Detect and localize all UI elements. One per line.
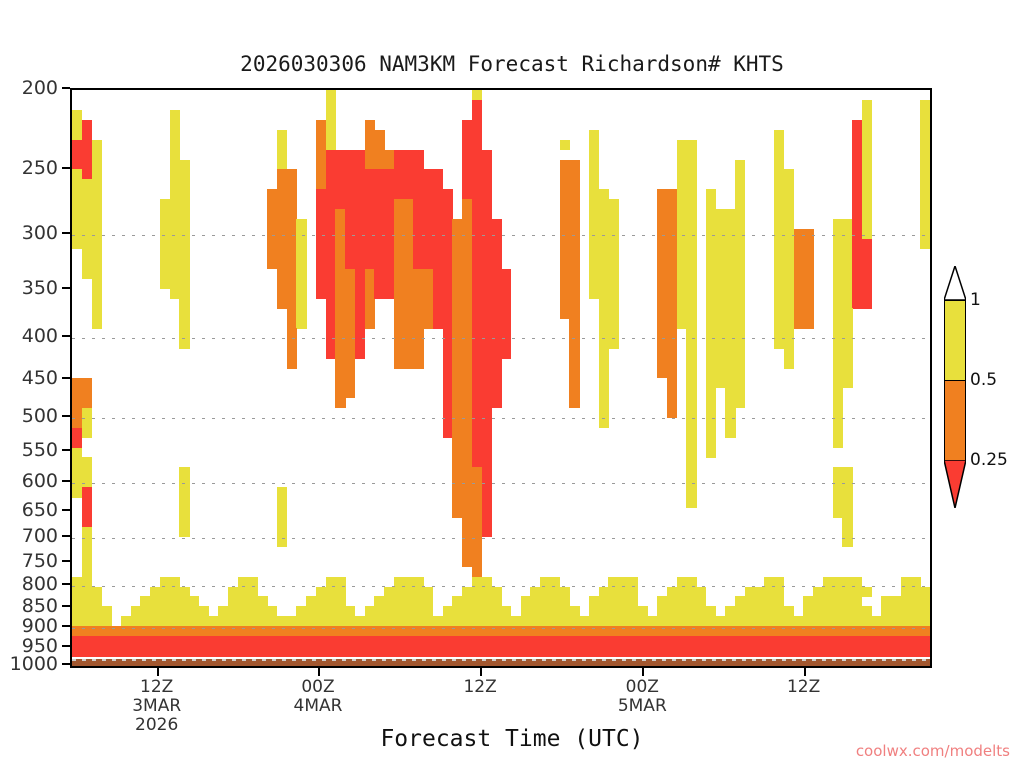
y-tick-mark	[62, 415, 70, 417]
heatmap-cell	[316, 259, 336, 269]
heatmap-cell	[316, 239, 336, 249]
heatmap-cell	[881, 596, 930, 606]
y-tick-mark	[62, 167, 70, 169]
heatmap-cell	[589, 249, 619, 259]
heatmap-cell	[472, 438, 492, 448]
heatmap-cell	[179, 527, 189, 537]
heatmap-cell	[569, 338, 579, 348]
heatmap-cell	[599, 368, 609, 378]
colorbar-segment-yellow	[944, 300, 966, 380]
heatmap-cell	[277, 160, 287, 170]
heatmap-cell	[560, 308, 580, 318]
heatmap-cell	[452, 487, 482, 497]
heatmap-cell	[472, 229, 502, 239]
heatmap-cell	[462, 130, 482, 140]
heatmap-cell	[365, 269, 375, 279]
colorbar-over-outline	[944, 266, 966, 300]
heatmap-cell	[657, 239, 677, 249]
heatmap-cell	[686, 378, 696, 388]
heatmap-cell	[365, 308, 375, 318]
heatmap-cell	[706, 428, 716, 438]
heatmap-cell	[160, 239, 190, 249]
heatmap-cell	[833, 318, 853, 328]
heatmap-cell	[452, 318, 472, 328]
heatmap-cell	[657, 189, 677, 199]
heatmap-cell	[218, 606, 277, 616]
heatmap-cell	[677, 140, 697, 150]
heatmap-cell	[901, 577, 921, 587]
heatmap-cell	[774, 259, 794, 269]
heatmap-cell	[677, 249, 697, 259]
heatmap-cell	[569, 378, 579, 388]
heatmap-cell	[686, 487, 696, 497]
heatmap-cell	[452, 308, 472, 318]
heatmap-cell	[335, 358, 355, 368]
heatmap-cell	[560, 249, 580, 259]
heatmap-cell	[569, 318, 579, 328]
heatmap-cell	[374, 279, 394, 289]
y-tick-label: 500	[22, 405, 58, 427]
heatmap-cell	[394, 577, 424, 587]
heatmap-cell	[287, 318, 297, 328]
x-tick-label: 12Z	[787, 678, 820, 697]
heatmap-cell	[677, 279, 697, 289]
heatmap-cell	[774, 160, 784, 170]
heatmap-cell	[326, 328, 336, 338]
heatmap-cell	[794, 239, 814, 249]
heatmap-cell	[657, 338, 677, 348]
heatmap-cell	[179, 507, 189, 517]
heatmap-cell	[920, 189, 930, 199]
heatmap-cell	[355, 308, 365, 318]
heatmap-cell	[657, 289, 677, 299]
heatmap-cell	[560, 269, 580, 279]
y-tick-label: 750	[22, 550, 58, 572]
heatmap-cell	[833, 378, 853, 388]
heatmap-cell	[677, 209, 697, 219]
heatmap-cell	[179, 328, 189, 338]
heatmap-cell	[560, 209, 580, 219]
x-tick-label: 00Z4MAR	[294, 678, 343, 716]
heatmap-cell	[842, 537, 852, 547]
heatmap-cell	[677, 179, 697, 189]
heatmap-cell	[452, 249, 472, 259]
heatmap-cell	[170, 110, 180, 120]
heatmap-cell	[345, 229, 394, 239]
heatmap-cell	[72, 179, 102, 189]
heatmap-cell	[862, 110, 872, 120]
heatmap-cell	[72, 388, 92, 398]
heatmap-cell	[599, 388, 609, 398]
heatmap-cell	[82, 507, 92, 517]
heatmap-cell	[72, 477, 92, 487]
heatmap-cell	[72, 408, 82, 418]
heatmap-cell	[92, 318, 102, 328]
heatmap-cell	[335, 209, 345, 219]
heatmap-cell	[608, 577, 638, 587]
heatmap-cell	[677, 299, 697, 309]
heatmap-cell	[823, 577, 863, 587]
heatmap-cell	[833, 328, 853, 338]
heatmap-cell	[472, 90, 482, 100]
heatmap-cell	[589, 169, 599, 179]
heatmap-cell	[335, 259, 345, 269]
heatmap-cell	[374, 596, 433, 606]
heatmap-cell	[706, 448, 716, 458]
heatmap-cell	[355, 279, 365, 289]
heatmap-cell	[862, 169, 872, 179]
heatmap-cell	[72, 448, 82, 458]
heatmap-cell	[881, 606, 930, 616]
heatmap-cell	[706, 368, 746, 378]
heatmap-cell	[589, 596, 638, 606]
y-tick-label: 400	[22, 325, 58, 347]
heatmap-cell	[462, 160, 492, 170]
heatmap-cell	[335, 289, 355, 299]
heatmap-cell	[355, 269, 365, 279]
heatmap-cell	[394, 308, 434, 318]
y-tick-label: 850	[22, 595, 58, 617]
heatmap-cell	[355, 348, 365, 358]
heatmap-cell	[569, 358, 579, 368]
heatmap-cell	[296, 269, 306, 279]
heatmap-cell	[794, 289, 814, 299]
heatmap-cell	[599, 408, 609, 418]
heatmap-cell	[150, 587, 190, 597]
heatmap-cell	[657, 299, 677, 309]
heatmap-cell	[599, 338, 619, 348]
heatmap-cell	[452, 368, 472, 378]
heatmap-cell	[569, 388, 579, 398]
chart-title: 2026030306 NAM3KM Forecast Richardson# K…	[0, 52, 1024, 76]
heatmap-cell	[462, 120, 482, 130]
heatmap-cell	[92, 140, 102, 150]
heatmap-cell	[706, 398, 716, 408]
heatmap-cell	[833, 408, 843, 418]
heatmap-cell	[852, 279, 872, 289]
heatmap-cell	[589, 209, 619, 219]
heatmap-cell	[452, 398, 472, 408]
heatmap-cell	[170, 130, 180, 140]
y-tick-label: 800	[22, 573, 58, 595]
heatmap-cell	[452, 289, 472, 299]
heatmap-cell	[394, 219, 414, 229]
heatmap-cell	[833, 467, 853, 477]
heatmap-cell	[72, 160, 92, 170]
x-tick-label: 12Z	[463, 678, 496, 697]
heatmap-cell	[326, 150, 366, 160]
heatmap-cell	[72, 239, 102, 249]
heatmap-cell	[394, 338, 424, 348]
heatmap-cell	[677, 269, 697, 279]
heatmap-cell	[365, 279, 375, 289]
heatmap-cell	[394, 259, 414, 269]
colorbar-tick-label: 0.25	[970, 450, 1008, 470]
heatmap-cell	[72, 467, 92, 477]
heatmap-cell	[667, 408, 677, 418]
heatmap-cell	[316, 150, 326, 160]
heatmap-cell	[833, 477, 853, 487]
heatmap-cell	[472, 338, 512, 348]
heatmap-cell	[833, 239, 853, 249]
watermark: coolwx.com/modelts	[856, 742, 1010, 760]
heatmap-cell	[82, 537, 92, 547]
heatmap-cell	[677, 308, 697, 318]
heatmap-cell	[326, 140, 336, 150]
heatmap-cell	[735, 169, 745, 179]
heatmap-cell	[316, 249, 336, 259]
heatmap-cell	[316, 219, 336, 229]
heatmap-cell	[394, 289, 434, 299]
heatmap-cell	[316, 169, 326, 179]
y-tick-mark	[62, 583, 70, 585]
heatmap-cell	[452, 259, 472, 269]
heatmap-cell	[394, 269, 434, 279]
y-tick-mark	[62, 605, 70, 607]
heatmap-cell	[774, 189, 794, 199]
heatmap-cell	[862, 179, 872, 189]
y-tick-label: 350	[22, 277, 58, 299]
heatmap-cell	[462, 199, 472, 209]
heatmap-cell	[160, 249, 190, 259]
chart-root: 2026030306 NAM3KM Forecast Richardson# K…	[0, 0, 1024, 768]
heatmap-cell	[706, 249, 746, 259]
heatmap-cell	[443, 378, 453, 388]
heatmap-cell	[569, 348, 579, 358]
heatmap-cell	[589, 219, 619, 229]
heatmap-cell	[725, 606, 794, 616]
heatmap-cell	[677, 229, 697, 239]
heatmap-cell	[686, 388, 696, 398]
heatmap-cell	[589, 239, 619, 249]
heatmap-cell	[833, 398, 843, 408]
heatmap-cell	[560, 179, 580, 189]
heatmap-cell	[72, 626, 931, 636]
heatmap-cell	[296, 318, 306, 328]
heatmap-cell	[833, 269, 853, 279]
heatmap-cell	[833, 338, 853, 348]
heatmap-cell	[462, 547, 482, 557]
heatmap-cell	[316, 289, 336, 299]
heatmap-cell	[569, 328, 579, 338]
heatmap-cell	[569, 368, 579, 378]
heatmap-cell	[277, 507, 287, 517]
heatmap-cell	[277, 517, 287, 527]
heatmap-cell	[589, 179, 599, 189]
heatmap-cell	[160, 279, 190, 289]
heatmap-cell	[920, 140, 930, 150]
heatmap-cell	[326, 318, 336, 328]
heatmap-cell	[394, 229, 414, 239]
heatmap-cell	[277, 487, 287, 497]
heatmap-cell	[686, 348, 696, 358]
heatmap-cell	[686, 368, 696, 378]
heatmap-cell	[667, 378, 677, 388]
heatmap-cell	[852, 199, 862, 209]
heatmap-cell	[774, 299, 794, 309]
heatmap-cell	[72, 616, 112, 626]
heatmap-cell	[413, 249, 453, 259]
heatmap-cell	[433, 269, 453, 279]
heatmap-cell	[472, 328, 512, 338]
heatmap-cell	[72, 110, 82, 120]
heatmap-cell	[413, 239, 453, 249]
heatmap-cell	[842, 527, 852, 537]
heatmap-cell	[296, 606, 355, 616]
heatmap-cell	[384, 587, 433, 597]
heatmap-cell	[706, 438, 716, 448]
heatmap-cell	[277, 169, 297, 179]
heatmap-cell	[443, 348, 453, 358]
heatmap-cell	[462, 150, 492, 160]
heatmap-cell	[452, 497, 482, 507]
heatmap-cell	[140, 596, 199, 606]
heatmap-cell	[599, 308, 619, 318]
heatmap-cell	[852, 150, 862, 160]
heatmap-cell	[813, 587, 872, 597]
heatmap-cell	[589, 150, 599, 160]
heatmap-cell	[472, 318, 512, 328]
heatmap-cell	[472, 100, 482, 110]
heatmap-cell	[365, 299, 375, 309]
heatmap-cell	[452, 408, 472, 418]
heatmap-cell	[686, 398, 696, 408]
heatmap-cell	[472, 358, 502, 368]
terrain-band	[72, 659, 930, 666]
heatmap-cell	[833, 487, 853, 497]
heatmap-cell	[72, 209, 102, 219]
heatmap-cell	[706, 269, 746, 279]
plot-area	[70, 88, 932, 668]
heatmap-cell	[686, 448, 696, 458]
heatmap-cell	[657, 249, 677, 259]
heatmap-cell	[72, 606, 112, 616]
heatmap-cell	[394, 358, 424, 368]
heatmap-cell	[852, 169, 862, 179]
heatmap-cell	[267, 209, 297, 219]
heatmap-cell	[72, 636, 931, 646]
heatmap-cell	[335, 279, 355, 289]
heatmap-cell	[72, 646, 931, 656]
heatmap-cell	[920, 239, 930, 249]
heatmap-cell	[774, 249, 794, 259]
heatmap-cell	[287, 328, 297, 338]
heatmap-cell	[394, 239, 414, 249]
heatmap-cell	[735, 179, 745, 189]
heatmap-cell	[725, 418, 735, 428]
heatmap-cell	[179, 517, 189, 527]
heatmap-cell	[862, 229, 872, 239]
heatmap-cell	[774, 130, 784, 140]
heatmap-cell	[472, 279, 512, 289]
heatmap-cell	[560, 279, 580, 289]
heatmap-cell	[560, 299, 580, 309]
heatmap-cell	[560, 219, 580, 229]
heatmap-cell	[560, 140, 570, 150]
heatmap-cell	[833, 279, 853, 289]
heatmap-cell	[794, 259, 814, 269]
heatmap-cell	[920, 160, 930, 170]
heatmap-cell	[677, 577, 697, 587]
colorbar-tick-label: 0.5	[970, 370, 997, 390]
heatmap-cell	[82, 120, 92, 130]
heatmap-cell	[472, 398, 502, 408]
heatmap-cell	[657, 219, 677, 229]
heatmap-cell	[326, 100, 336, 110]
heatmap-cell	[599, 418, 609, 428]
colorbar[interactable]: 10.50.25	[944, 300, 966, 460]
heatmap-cell	[706, 408, 716, 418]
heatmap-cell	[287, 308, 297, 318]
heatmap-cell	[316, 587, 346, 597]
heatmap-cell	[657, 269, 677, 279]
heatmap-cell	[833, 299, 853, 309]
heatmap-cell	[589, 269, 619, 279]
heatmap-cell	[179, 338, 189, 348]
heatmap-cell	[852, 130, 862, 140]
heatmap-cell	[852, 160, 862, 170]
heatmap-cell	[306, 596, 346, 606]
heatmap-cell	[725, 398, 745, 408]
heatmap-cell	[433, 279, 453, 289]
heatmap-cell	[335, 299, 355, 309]
x-tick-mark	[157, 668, 159, 676]
heatmap-cell	[920, 110, 930, 120]
heatmap-cell	[462, 537, 482, 547]
heatmap-cell	[706, 328, 746, 338]
heatmap-cell	[920, 229, 930, 239]
heatmap-cell	[277, 140, 287, 150]
heatmap-cell	[316, 130, 326, 140]
heatmap-cell	[677, 239, 697, 249]
heatmap-cell	[472, 378, 502, 388]
heatmap-cell	[462, 140, 482, 150]
heatmap-cell	[433, 299, 453, 309]
heatmap-cell	[345, 259, 394, 269]
heatmap-cell	[540, 577, 560, 587]
heatmap-cell	[345, 249, 394, 259]
heatmap-cell	[657, 318, 677, 328]
heatmap-cell	[82, 428, 92, 438]
heatmap-cell	[335, 338, 355, 348]
heatmap-cell	[589, 199, 619, 209]
heatmap-cell	[589, 160, 599, 170]
heatmap-cell	[72, 438, 82, 448]
heatmap-cell	[82, 408, 92, 418]
heatmap-cell	[833, 438, 843, 448]
heatmap-cell	[296, 219, 306, 229]
heatmap-cell	[686, 408, 696, 418]
heatmap-cell	[335, 249, 345, 259]
heatmap-cell	[521, 606, 580, 616]
heatmap-cell	[452, 596, 501, 606]
heatmap-cell	[326, 120, 336, 130]
heatmap-cell	[287, 338, 297, 348]
heatmap-cell	[160, 199, 190, 209]
heatmap-cell	[657, 209, 677, 219]
heatmap-cell	[92, 289, 102, 299]
heatmap-cell	[160, 219, 190, 229]
heatmap-cell	[589, 606, 648, 616]
colorbar-segment-orange	[944, 380, 966, 460]
heatmap-cell	[599, 358, 609, 368]
x-tick-mark	[642, 668, 644, 676]
heatmap-cell	[82, 527, 92, 537]
heatmap-cell	[228, 587, 258, 597]
heatmap-cell	[735, 596, 784, 606]
heatmap-cell	[833, 249, 853, 259]
heatmap-cell	[686, 467, 696, 477]
